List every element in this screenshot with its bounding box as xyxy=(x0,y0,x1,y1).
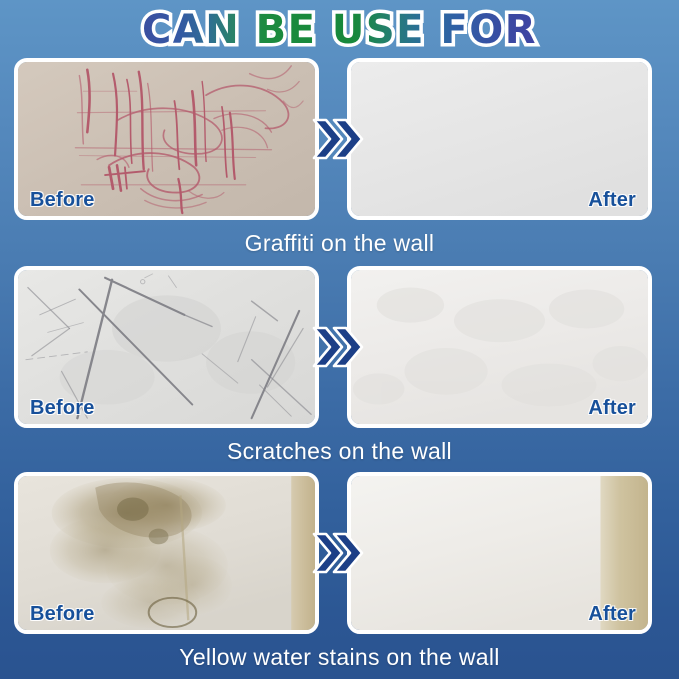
after-panel-graffiti: After xyxy=(347,58,652,220)
before-tag: Before xyxy=(30,189,95,212)
double-chevron-right-icon xyxy=(312,116,364,162)
after-tag: After xyxy=(588,189,636,212)
after-tag: After xyxy=(588,397,636,420)
comparison-row-water-stains: Before xyxy=(0,472,679,642)
row-caption-graffiti: Graffiti on the wall xyxy=(0,230,679,257)
comparison-row-scratches: Before xyxy=(0,266,679,436)
before-panel-water-stains: Before xyxy=(14,472,319,634)
panel-pair: Before xyxy=(0,472,679,642)
before-panel-scratches: Before xyxy=(14,266,319,428)
before-panel-graffiti: Before xyxy=(14,58,319,220)
after-panel-scratches: After xyxy=(347,266,652,428)
double-chevron-right-icon xyxy=(312,530,364,576)
before-tag: Before xyxy=(30,603,95,626)
promo-poster: CAN BE USE FOR CAN BE USE FOR xyxy=(0,0,679,679)
panel-pair: Before After xyxy=(0,58,679,228)
double-chevron-right-icon xyxy=(312,324,364,370)
page-title: CAN BE USE FOR CAN BE USE FOR xyxy=(0,4,679,56)
after-panel-water-stains: After xyxy=(347,472,652,634)
panel-pair: Before xyxy=(0,266,679,436)
before-tag: Before xyxy=(30,397,95,420)
after-tag: After xyxy=(588,603,636,626)
page-title-text: CAN BE USE FOR xyxy=(142,10,537,50)
comparison-row-graffiti: Before After xyxy=(0,58,679,228)
row-caption-scratches: Scratches on the wall xyxy=(0,438,679,465)
row-caption-water-stains: Yellow water stains on the wall xyxy=(0,644,679,671)
